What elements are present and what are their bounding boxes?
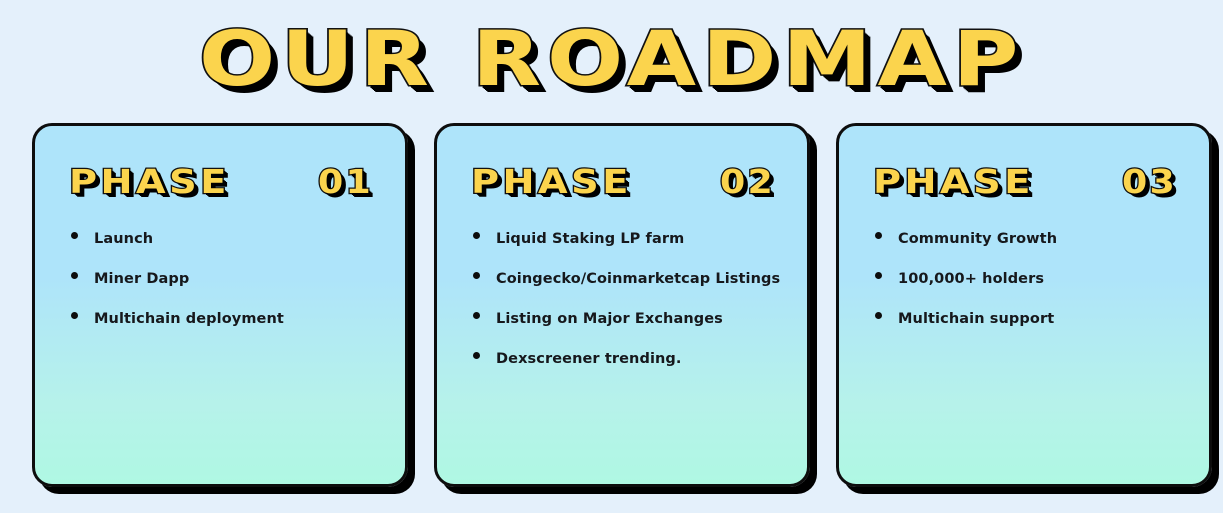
phase-card-03-number: 03 [1122, 162, 1177, 202]
bullet-dot-icon [473, 352, 480, 359]
bullet-dot-icon [473, 272, 480, 279]
list-item-label: Multichain support [898, 311, 1054, 327]
list-item-label: Listing on Major Exchanges [496, 311, 723, 327]
page-title: OUR ROADMAP [199, 18, 1024, 100]
list-item: Multichain support [875, 311, 1189, 327]
bullet-dot-icon [71, 232, 78, 239]
list-item: Listing on Major Exchanges [473, 311, 787, 327]
phase-card-03-list: Community Growth 100,000+ holders Multic… [875, 231, 1189, 351]
bullet-dot-icon [875, 312, 882, 319]
phase-card-03-label: PHASE [873, 162, 1034, 202]
list-item-label: 100,000+ holders [898, 271, 1044, 287]
phase-card-02: PHASE 02 Liquid Staking LP farm Coingeck… [434, 123, 810, 487]
bullet-dot-icon [875, 272, 882, 279]
bullet-dot-icon [71, 312, 78, 319]
phase-card-01-header: PHASE 01 [69, 159, 373, 205]
bullet-dot-icon [875, 232, 882, 239]
list-item-label: Multichain deployment [94, 311, 284, 327]
list-item-label: Liquid Staking LP farm [496, 231, 684, 247]
list-item-label: Coingecko/Coinmarketcap Listings [496, 271, 780, 287]
list-item-label: Community Growth [898, 231, 1057, 247]
list-item-label: Launch [94, 231, 153, 247]
bullet-dot-icon [473, 312, 480, 319]
phase-card-02-label: PHASE [471, 162, 632, 202]
phase-card-01-number: 01 [318, 162, 373, 202]
list-item-label: Dexscreener trending. [496, 351, 682, 367]
phase-card-02-number: 02 [720, 162, 775, 202]
phase-card-01-list: Launch Miner Dapp Multichain deployment [71, 231, 385, 351]
bullet-dot-icon [473, 232, 480, 239]
list-item: Miner Dapp [71, 271, 385, 287]
list-item: Launch [71, 231, 385, 247]
roadmap-phase-cards: PHASE 01 Launch Miner Dapp Multichain de… [32, 123, 1212, 495]
list-item: Coingecko/Coinmarketcap Listings [473, 271, 787, 287]
list-item: 100,000+ holders [875, 271, 1189, 287]
page-title-container: OUR ROADMAP [0, 18, 1223, 100]
list-item: Liquid Staking LP farm [473, 231, 787, 247]
phase-card-01: PHASE 01 Launch Miner Dapp Multichain de… [32, 123, 408, 487]
bullet-dot-icon [71, 272, 78, 279]
list-item: Community Growth [875, 231, 1189, 247]
phase-card-01-label: PHASE [69, 162, 230, 202]
list-item: Dexscreener trending. [473, 351, 787, 367]
list-item: Multichain deployment [71, 311, 385, 327]
phase-card-03: PHASE 03 Community Growth 100,000+ holde… [836, 123, 1212, 487]
phase-card-02-header: PHASE 02 [471, 159, 775, 205]
phase-card-02-list: Liquid Staking LP farm Coingecko/Coinmar… [473, 231, 787, 391]
phase-card-03-header: PHASE 03 [873, 159, 1177, 205]
list-item-label: Miner Dapp [94, 271, 189, 287]
